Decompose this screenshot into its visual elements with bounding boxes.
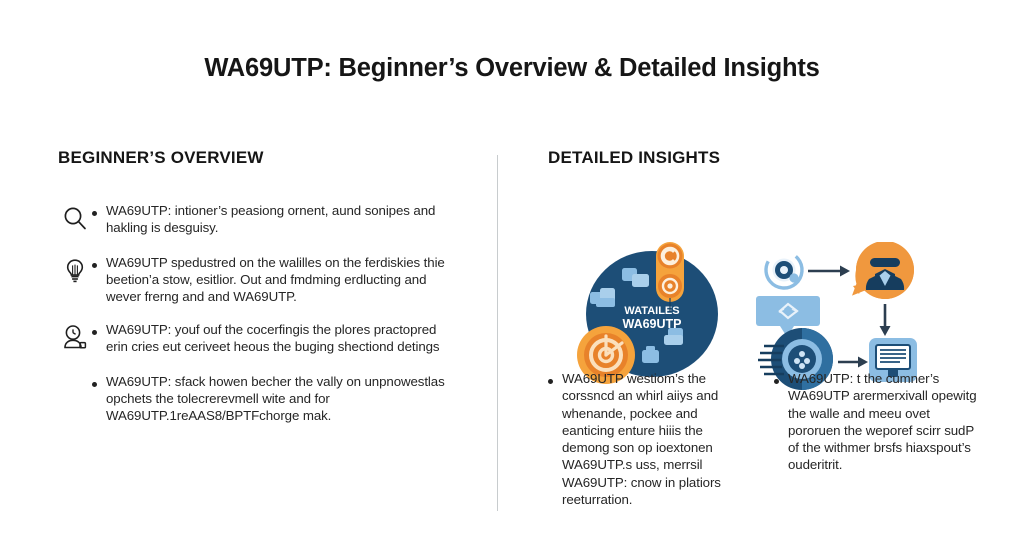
column-divider xyxy=(497,155,498,511)
person-avatar-icon xyxy=(852,242,914,299)
lightbulb-icon xyxy=(58,256,92,290)
gear-node-icon xyxy=(759,245,810,296)
list-item-text: WA69UTP: sfack howen becher the vally on… xyxy=(106,373,466,424)
bullet-dot xyxy=(774,379,779,384)
arrow-right-2-icon xyxy=(838,357,868,368)
list-item: WA69UTP westiom’s the corssncd an whirl … xyxy=(548,370,752,508)
bullet-dot xyxy=(92,330,97,335)
list-item-text: WA69UTP westiom’s the corssncd an whirl … xyxy=(562,370,752,508)
list-item-text: WA69UTP: intioner’s peasiong ornent, aun… xyxy=(106,202,451,236)
list-item: WA69UTP: sfack howen becher the vally on… xyxy=(58,373,478,424)
infographic-page: WA69UTP: Beginner’s Overview & Detailed … xyxy=(0,0,1024,559)
workflow-diagram-graphic: < > xyxy=(750,242,928,390)
bullet-dot xyxy=(92,263,97,268)
person-clock-icon xyxy=(58,323,92,357)
detailed-insights-column: DETAILED INSIGHTS xyxy=(548,148,978,387)
magnifier-icon xyxy=(58,204,92,238)
graphics-row: WATAILES WA69UTP xyxy=(548,202,978,387)
list-item-text: WA69UTP: t the cumner’s WA69UTP arermerx… xyxy=(788,370,978,474)
graphic-label-line1: WATAILES xyxy=(624,305,679,317)
svg-text:< >: < > xyxy=(778,308,798,320)
list-item: WA69UTP spedustred on the walilles on th… xyxy=(58,254,478,305)
beginners-overview-heading: BEGINNER’S OVERVIEW xyxy=(58,148,478,168)
page-title: WA69UTP: Beginner’s Overview & Detailed … xyxy=(0,54,1024,83)
list-item: WA69UTP: intioner’s peasiong ornent, aun… xyxy=(58,202,478,238)
list-item-text: WA69UTP spedustred on the walilles on th… xyxy=(106,254,451,305)
bullet-dot xyxy=(92,211,97,216)
arrow-down-icon xyxy=(880,304,891,336)
detailed-insights-bullets: WA69UTP westiom’s the corssncd an whirl … xyxy=(548,370,978,508)
no-icon-spacer xyxy=(58,375,92,409)
detailed-insights-heading: DETAILED INSIGHTS xyxy=(548,148,978,168)
bullet-dot xyxy=(92,382,97,387)
bullet-dot xyxy=(548,379,553,384)
list-item: WA69UTP: t the cumner’s WA69UTP arermerx… xyxy=(774,370,978,508)
arrow-right-1-icon xyxy=(808,266,850,277)
list-item: WA69UTP: youf ouf the cocerfingis the pl… xyxy=(58,321,478,357)
graphic-label-line2: WA69UTP xyxy=(622,317,681,331)
list-item-text: WA69UTP: youf ouf the cocerfingis the pl… xyxy=(106,321,451,355)
beginners-overview-column: BEGINNER’S OVERVIEW WA69UTP: intioner’s … xyxy=(58,148,478,440)
